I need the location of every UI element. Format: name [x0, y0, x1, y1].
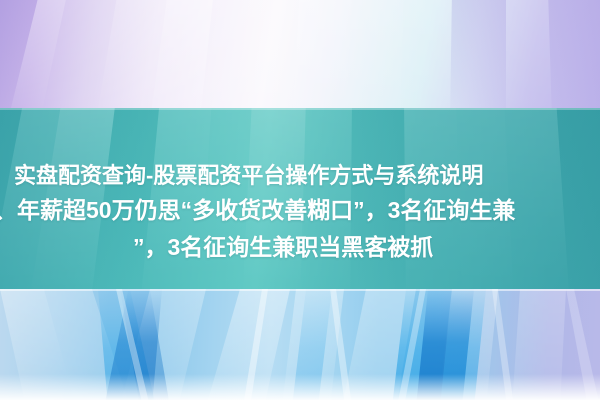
blue-chevron-band	[0, 289, 600, 400]
band-divider-bottom	[0, 289, 600, 291]
top-band-shards	[0, 0, 600, 108]
teal-band-shards	[0, 108, 600, 289]
decorative-banner: 实盘配资查询-股票配资平台操作方式与系统说明 、年薪超50万仍思“多收货改善糊口…	[0, 0, 600, 400]
bottom-white-fade	[0, 374, 600, 400]
band-divider-top	[0, 108, 600, 110]
teal-band	[0, 108, 600, 289]
top-gradient-band	[0, 0, 600, 108]
